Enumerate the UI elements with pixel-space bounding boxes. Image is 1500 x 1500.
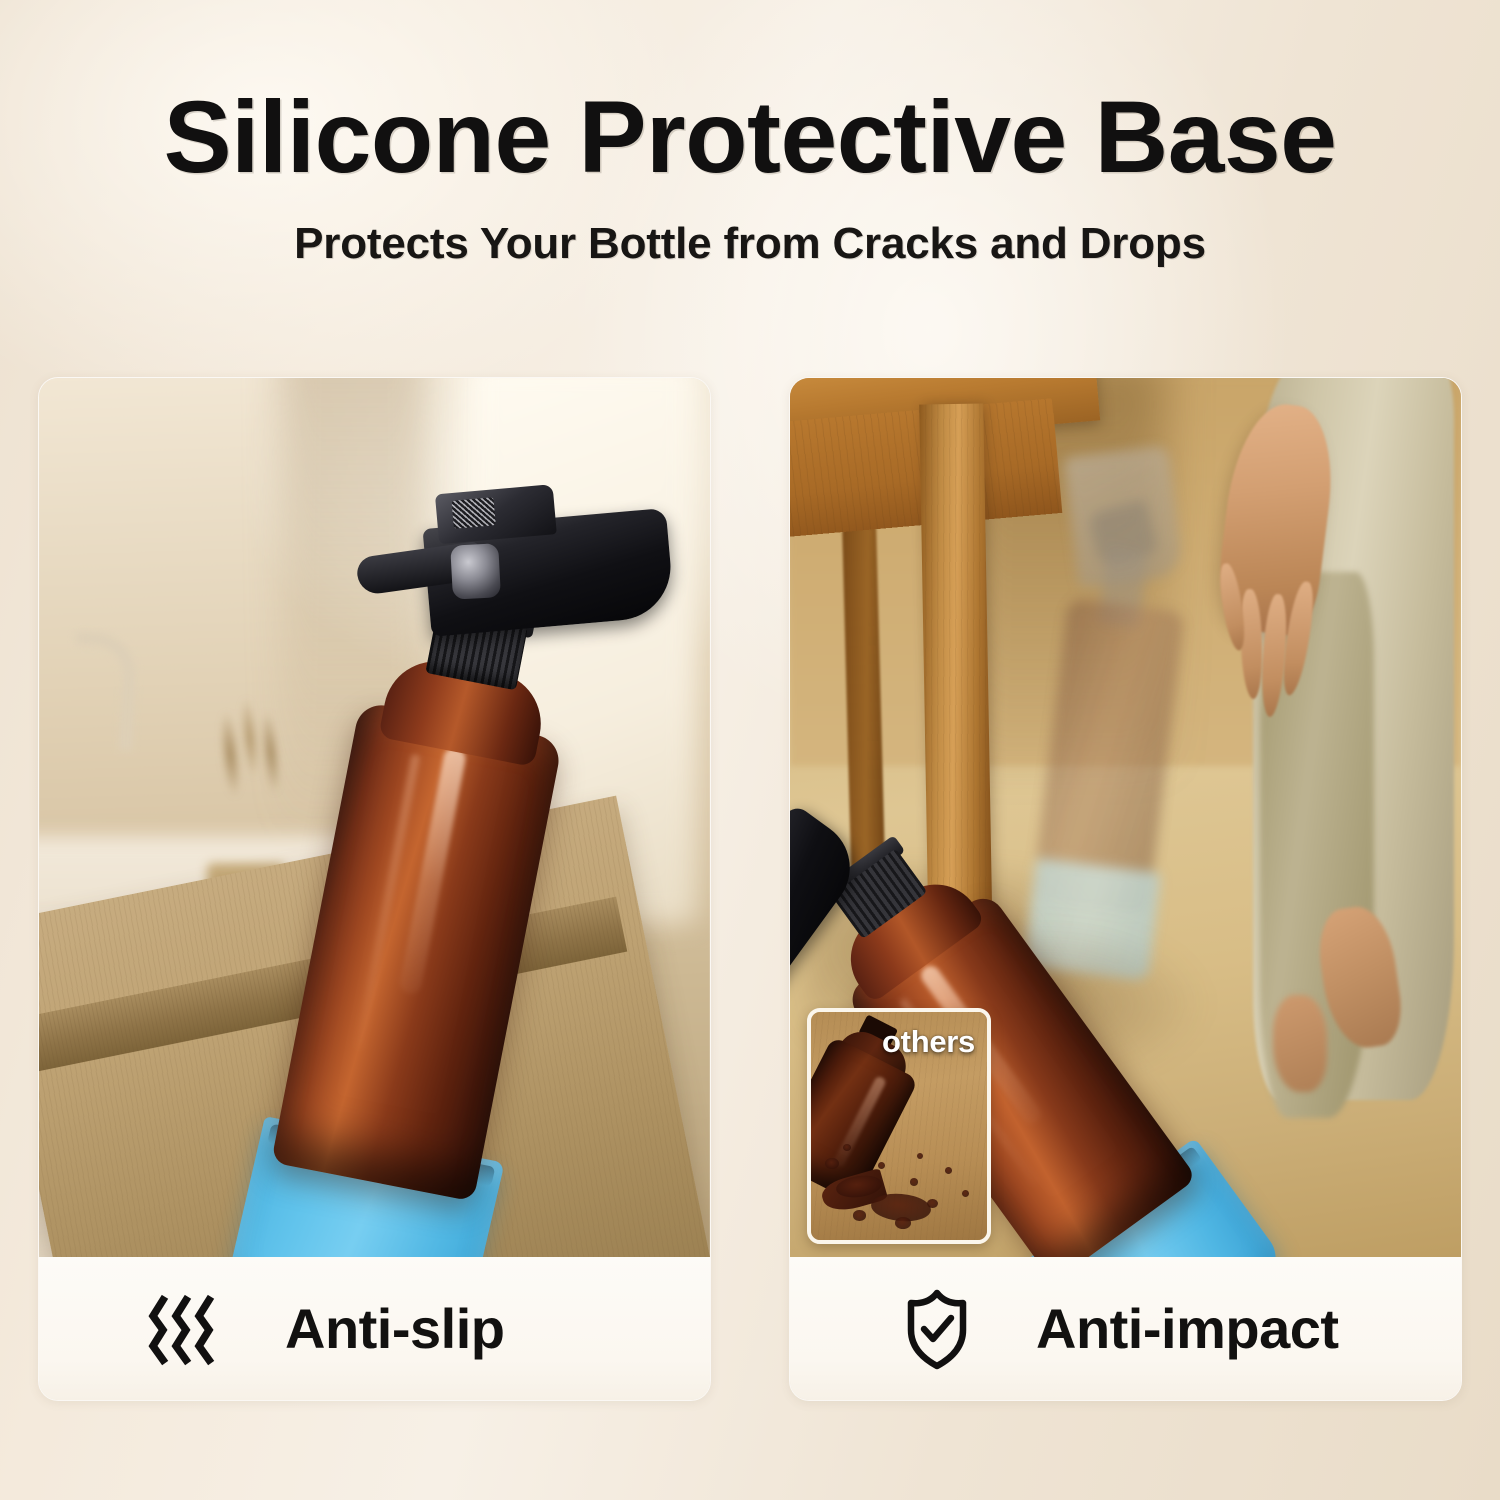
photo-anti-slip xyxy=(39,378,710,1259)
shield-check-icon xyxy=(894,1286,980,1372)
header: Silicone Protective Base Protects Your B… xyxy=(0,0,1500,330)
feature-label-anti-slip: Anti-slip xyxy=(285,1296,504,1361)
feature-card-anti-impact[interactable]: others Anti-impact xyxy=(789,377,1462,1401)
feature-label-anti-impact: Anti-impact xyxy=(1036,1296,1339,1361)
spill-droplet xyxy=(917,1153,923,1159)
spill-droplet xyxy=(927,1199,938,1208)
person-foot-left xyxy=(1273,995,1327,1092)
faucet-blur-icon xyxy=(70,632,138,751)
page-subtitle: Protects Your Bottle from Cracks and Dro… xyxy=(0,222,1500,266)
spill-droplet xyxy=(895,1217,911,1228)
photo-anti-impact: others xyxy=(790,378,1461,1259)
feature-cards: Anti-slip xyxy=(38,377,1462,1401)
spill-droplet xyxy=(853,1210,865,1220)
trigger-pivot xyxy=(450,543,501,599)
nozzle-icon xyxy=(452,497,496,529)
inset-label-others: others xyxy=(882,1024,975,1060)
spill-droplet xyxy=(843,1144,851,1151)
label-strip-anti-impact: Anti-impact xyxy=(790,1257,1461,1400)
feature-card-anti-slip[interactable]: Anti-slip xyxy=(38,377,711,1401)
label-strip-anti-slip: Anti-slip xyxy=(39,1257,710,1400)
others-comparison-inset[interactable]: others xyxy=(807,1008,991,1244)
spill-droplet xyxy=(945,1167,952,1174)
zigzag-waves-icon xyxy=(143,1286,229,1372)
page-title: Silicone Protective Base xyxy=(0,86,1500,188)
